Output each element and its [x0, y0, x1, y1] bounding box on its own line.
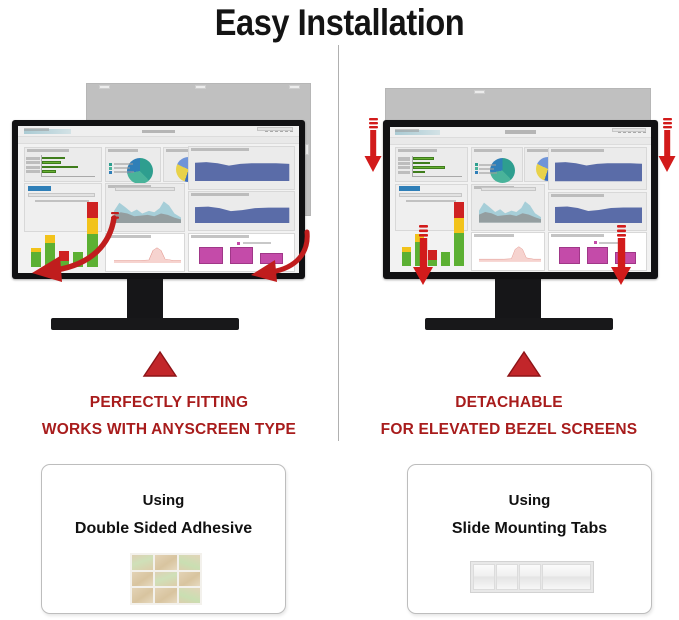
left-method-card: Using Double Sided Adhesive	[41, 464, 286, 614]
stacked-column	[45, 235, 55, 267]
legend-label	[114, 171, 134, 173]
axis-label	[26, 157, 40, 160]
monitor-screen-left	[18, 126, 299, 273]
stacked-column	[428, 250, 437, 266]
breadcrumb	[395, 129, 418, 132]
legend-label	[479, 168, 494, 170]
stacked-column	[415, 234, 424, 266]
panel-header	[398, 149, 437, 152]
segment-green	[441, 252, 450, 267]
legend-label	[599, 242, 624, 244]
bar	[42, 161, 61, 164]
stacked-column	[402, 247, 411, 266]
panel-pie-1	[105, 147, 161, 182]
left-caption: PERFECTLY FITTING WORKS WITH ANYSCREEN T…	[0, 394, 338, 439]
legend-swatch	[594, 241, 597, 244]
bar	[587, 247, 608, 264]
monitor-stand-neck-left	[127, 279, 163, 320]
filter-dropdown[interactable]	[257, 127, 294, 131]
segment-green	[415, 242, 424, 266]
bar	[615, 252, 636, 263]
axis-label	[26, 166, 40, 169]
chart-dropdown[interactable]	[481, 187, 536, 191]
monitor-stand-neck-right	[495, 279, 541, 320]
method-label: Slide Mounting Tabs	[408, 520, 651, 538]
line-chart-svg	[114, 245, 181, 263]
select-dropdown[interactable]	[399, 193, 462, 198]
bar	[42, 170, 56, 173]
axis-label	[26, 170, 40, 173]
legend-swatch	[475, 167, 478, 170]
panel-area-blue-1	[188, 146, 295, 190]
stacked-column	[441, 252, 450, 267]
segment-green	[87, 234, 98, 268]
segment-yellow	[45, 235, 55, 243]
adhesive-pad	[179, 588, 200, 603]
axis-label	[26, 161, 40, 164]
panel-green-bars	[395, 147, 468, 182]
segment-green	[59, 261, 69, 267]
area-chart	[114, 196, 181, 223]
panel-pink-line	[471, 232, 545, 271]
bar	[413, 162, 431, 164]
dashboard-left	[18, 126, 299, 273]
bar	[559, 247, 580, 264]
legend-label	[243, 242, 270, 244]
bar	[413, 157, 434, 159]
panel-area-blue-2	[188, 191, 295, 231]
legend-swatch	[109, 163, 112, 166]
filter-tab-icon	[99, 85, 110, 89]
filter-dropdown[interactable]	[612, 128, 646, 132]
area-chart	[479, 196, 541, 223]
line-chart-svg	[479, 244, 541, 262]
adhesive-pad	[132, 588, 153, 603]
panel-header	[27, 149, 69, 152]
status-button[interactable]	[399, 186, 420, 191]
x-axis	[41, 176, 95, 177]
using-label: Using	[42, 492, 285, 509]
mounting-tab	[496, 564, 518, 590]
area-chart-svg	[479, 196, 541, 223]
legend-swatch	[109, 167, 112, 170]
stacked-column	[87, 202, 98, 267]
panel-header	[191, 193, 249, 196]
monitor-bezel-right	[383, 120, 658, 279]
install-arrow-right-outer-right	[656, 118, 678, 174]
legend-swatch	[475, 163, 478, 166]
panel-header	[191, 148, 249, 151]
adhesive-pad	[179, 555, 200, 570]
bar	[199, 247, 222, 264]
stacked-column	[31, 248, 41, 267]
mounting-tab	[542, 564, 591, 590]
segment-yellow	[87, 218, 98, 234]
panel-header	[108, 235, 151, 238]
stacked-column	[454, 202, 464, 266]
dashboard-right	[390, 127, 651, 272]
bar	[42, 166, 77, 169]
legend-label	[406, 200, 456, 202]
panel-area-blue-1	[548, 147, 647, 191]
segment-green	[31, 252, 41, 267]
install-arrow-right-outer-left	[362, 118, 384, 174]
area-chart	[195, 158, 289, 182]
panel-magenta-bars	[548, 232, 647, 271]
area-chart	[195, 203, 289, 223]
area-chart-svg	[195, 203, 289, 223]
up-triangle-icon-right	[506, 350, 542, 378]
dashboard-subbar	[18, 137, 299, 144]
legend-label	[479, 164, 496, 166]
area-chart-svg	[555, 158, 642, 181]
segment-red	[428, 250, 437, 260]
filter-tab-icon	[289, 85, 300, 89]
filter-tab-icon	[195, 85, 206, 89]
chart-dropdown[interactable]	[115, 187, 174, 191]
monitor-screen-right	[390, 127, 651, 272]
legend-swatch	[237, 242, 240, 245]
area-chart	[555, 203, 642, 223]
legend-swatch	[109, 171, 112, 174]
adhesive-pads-image	[130, 553, 202, 605]
panel-magenta-bars	[188, 233, 295, 273]
panel-green-bars	[24, 147, 103, 182]
panel-header	[551, 194, 604, 197]
segment-yellow	[402, 247, 411, 251]
legend-label	[114, 167, 130, 169]
segment-green	[73, 252, 83, 267]
panel-header	[474, 234, 514, 237]
bar	[413, 171, 426, 173]
caption-line-1: DETACHABLE	[339, 394, 679, 412]
panel-body	[396, 154, 467, 182]
panel-pie-1	[471, 147, 523, 182]
panel-area-blue-2	[548, 192, 647, 231]
axis-label	[398, 157, 411, 160]
legend-label	[479, 172, 497, 174]
right-method-card: Using Slide Mounting Tabs	[407, 464, 652, 614]
mounting-tab	[473, 564, 495, 590]
using-label: Using	[408, 492, 651, 509]
area-chart	[555, 158, 642, 181]
panel-pink-line	[105, 233, 185, 273]
panel-area-teal	[105, 183, 185, 232]
axis-label	[398, 166, 411, 169]
panel-area-teal	[471, 184, 545, 232]
adhesive-pad	[132, 572, 153, 587]
area-chart-svg	[555, 203, 642, 223]
adhesive-pad	[155, 572, 176, 587]
segment-green	[454, 233, 464, 266]
monitor-stand-base-left	[51, 318, 239, 330]
stacked-column	[59, 251, 69, 267]
adhesive-pad	[132, 555, 153, 570]
up-triangle-icon-left	[142, 350, 178, 378]
caption-line-1: PERFECTLY FITTING	[0, 394, 338, 412]
panel-header	[474, 149, 502, 152]
page-title: Easy Installation	[41, 2, 639, 44]
adhesive-pad	[155, 588, 176, 603]
panel-header	[108, 149, 138, 152]
filter-tab-icon	[305, 144, 309, 155]
line-chart	[479, 244, 541, 262]
product-infographic: Easy Installation	[0, 0, 679, 620]
bar	[413, 166, 446, 168]
filter-tab-icon	[474, 90, 485, 94]
caption-line-2: WORKS WITH ANYSCREEN TYPE	[0, 421, 338, 439]
x-axis	[412, 176, 462, 177]
segment-yellow	[31, 248, 41, 252]
dashboard-title-text	[505, 130, 536, 133]
area-chart-svg	[114, 196, 181, 223]
axis-label	[398, 162, 411, 165]
axis-label	[398, 171, 411, 174]
adhesive-pad	[179, 572, 200, 587]
panel-header	[551, 234, 604, 237]
status-button[interactable]	[28, 186, 51, 191]
line-chart	[114, 245, 181, 263]
breadcrumb	[24, 128, 49, 131]
bar	[42, 157, 65, 160]
segment-red	[454, 202, 464, 217]
panel-body	[25, 153, 102, 181]
monitor-bezel-left	[12, 120, 305, 279]
select-dropdown[interactable]	[28, 193, 95, 198]
adhesive-pad	[155, 555, 176, 570]
segment-yellow	[454, 218, 464, 233]
dashboard-title-text	[142, 130, 176, 134]
legend-label	[114, 163, 132, 165]
segment-yellow	[415, 234, 424, 242]
panel-header	[191, 235, 249, 238]
segment-green	[45, 243, 55, 268]
bar	[260, 253, 283, 264]
slide-mounting-tabs-image	[470, 561, 594, 593]
center-divider	[338, 45, 339, 441]
legend-swatch	[475, 171, 478, 174]
bar	[230, 247, 253, 264]
mounting-tab	[519, 564, 541, 590]
legend-label	[35, 200, 89, 202]
dashboard-subbar	[390, 138, 651, 145]
stacked-column	[73, 252, 83, 267]
method-label: Double Sided Adhesive	[42, 520, 285, 538]
segment-green	[402, 252, 411, 267]
segment-red	[59, 251, 69, 261]
area-chart-svg	[195, 158, 289, 182]
segment-red	[87, 202, 98, 218]
segment-green	[428, 260, 437, 266]
monitor-stand-base-right	[425, 318, 613, 330]
caption-line-2: FOR ELEVATED BEZEL SCREENS	[339, 421, 679, 439]
right-caption: DETACHABLE FOR ELEVATED BEZEL SCREENS	[339, 394, 679, 439]
panel-header	[551, 149, 604, 152]
